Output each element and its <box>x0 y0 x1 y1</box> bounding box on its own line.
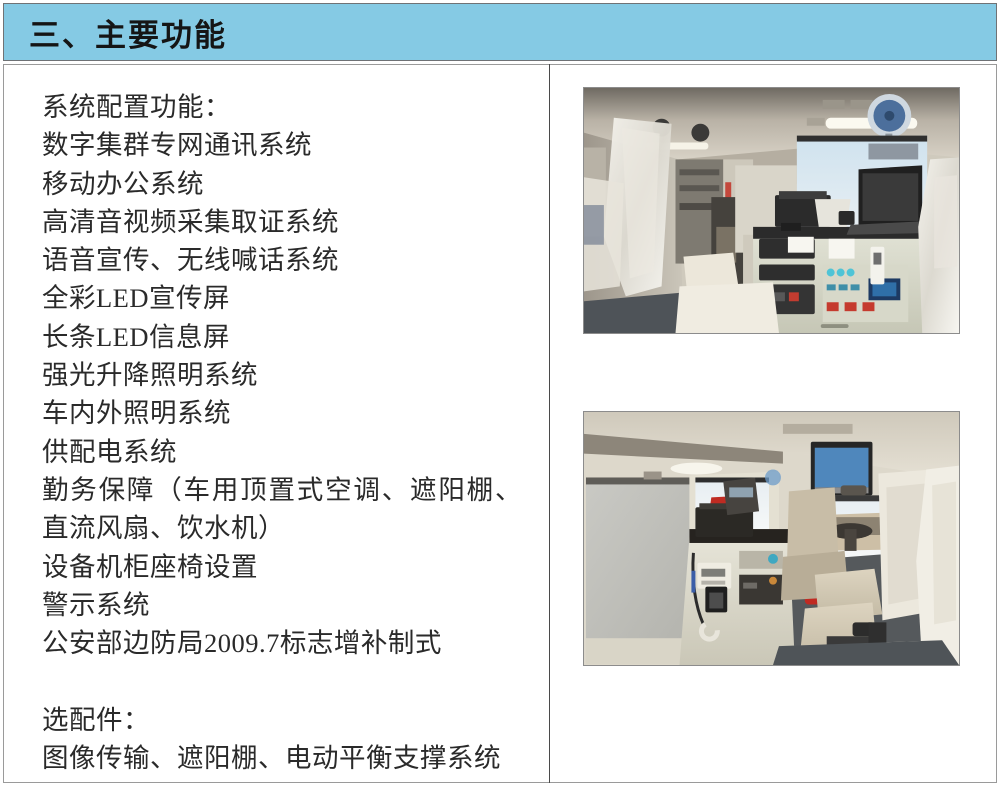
item-digital-trunk: 数字集群专网通讯系统 <box>42 126 522 164</box>
item-warning: 警示系统 <box>42 586 522 624</box>
page-title: 三、主要功能 <box>29 10 227 55</box>
list-spacer <box>42 662 522 700</box>
item-floodlight: 强光升降照明系统 <box>42 356 522 394</box>
item-cabinet-seat: 设备机柜座椅设置 <box>42 548 522 586</box>
item-mobile-office: 移动办公系统 <box>42 165 522 203</box>
slide-header: 三、主要功能 <box>3 3 997 61</box>
heading-config: 系统配置功能： <box>42 88 522 126</box>
column-divider <box>549 64 550 783</box>
feature-list: 系统配置功能：数字集群专网通讯系统移动办公系统高清音视频采集取证系统语音宣传、无… <box>42 88 522 777</box>
item-hd-av: 高清音视频采集取证系统 <box>42 203 522 241</box>
item-optional-list: 图像传输、遮阳棚、电动平衡支撑系统 <box>42 739 522 777</box>
item-emblem-2009: 公安部边防局2009.7标志增补制式 <box>42 624 522 662</box>
photo-top-graphic <box>584 88 959 333</box>
item-interior-light: 车内外照明系统 <box>42 394 522 432</box>
vehicle-interior-workstation-photo <box>583 87 960 334</box>
slide-root: 三、主要功能 系统配置功能：数字集群专网通讯系统移动办公系统高清音视频采集取证系… <box>0 0 1000 786</box>
item-led-color: 全彩LED宣传屏 <box>42 279 522 317</box>
heading-optional: 选配件： <box>42 701 522 739</box>
photo-bottom-graphic <box>584 412 959 665</box>
item-service: 勤务保障（车用顶置式空调、遮阳棚、直流风扇、饮水机） <box>42 471 522 548</box>
vehicle-interior-cabin-photo <box>583 411 960 666</box>
item-led-strip: 长条LED信息屏 <box>42 318 522 356</box>
item-voice-wireless: 语音宣传、无线喊话系统 <box>42 241 522 279</box>
item-power: 供配电系统 <box>42 433 522 471</box>
